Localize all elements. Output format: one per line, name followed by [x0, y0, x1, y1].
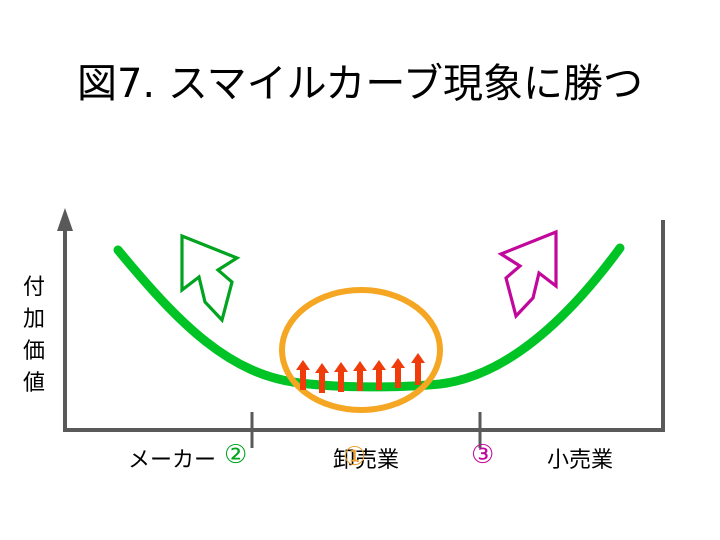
y-axis	[57, 208, 73, 430]
y-axis-label-char-2: 加	[18, 304, 50, 336]
y-axis-label-char-3: 価	[18, 336, 50, 368]
smile-curve-figure: 図7. スマイルカーブ現象に勝つ	[0, 0, 720, 540]
page-title: 図7. スマイルカーブ現象に勝つ	[0, 58, 720, 110]
marker-2-arrow-icon	[182, 236, 237, 320]
chart-area: 付 加 価 値 メーカー 卸売業 小売業 ① ② ③	[0, 190, 720, 500]
marker-3-arrow-icon	[501, 232, 556, 316]
y-axis-label: 付 加 価 値	[18, 272, 50, 400]
x-axis-category-retail: 小売業	[500, 448, 660, 474]
y-axis-label-char-4: 値	[18, 368, 50, 400]
marker-label-2: ②	[224, 440, 247, 470]
marker-1-ellipse-highlight	[282, 290, 440, 410]
y-axis-label-char-1: 付	[18, 272, 50, 304]
marker-label-3: ③	[471, 440, 494, 470]
marker-label-1: ①	[343, 442, 366, 472]
